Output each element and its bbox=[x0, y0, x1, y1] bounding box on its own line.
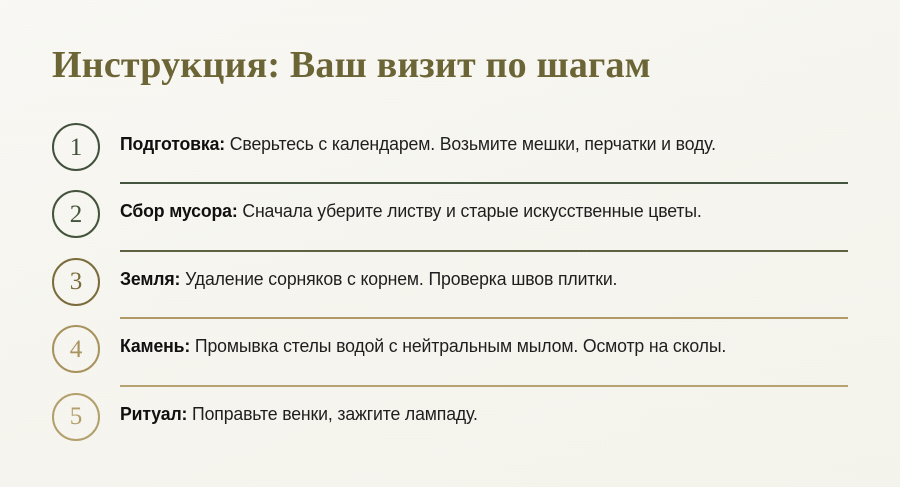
step-text: Подготовка: Сверьтесь с календарем. Возь… bbox=[120, 131, 815, 157]
step-number-badge: 5 bbox=[52, 393, 100, 441]
steps-list: 1Подготовка: Сверьтесь с календарем. Воз… bbox=[0, 117, 900, 454]
step-number-badge: 1 bbox=[52, 123, 100, 171]
step-text: Сбор мусора: Сначала уберите листву и ст… bbox=[120, 198, 815, 224]
step-item: 1Подготовка: Сверьтесь с календарем. Воз… bbox=[0, 117, 900, 184]
step-label: Камень: bbox=[120, 335, 190, 356]
step-number-badge: 4 bbox=[52, 325, 100, 373]
step-description: Поправьте венки, зажгите лампаду. bbox=[192, 403, 478, 424]
step-label: Сбор мусора: bbox=[120, 200, 238, 221]
step-text: Земля: Удаление сорняков с корнем. Прове… bbox=[120, 266, 815, 292]
step-item: 3Земля: Удаление сорняков с корнем. Пров… bbox=[0, 252, 900, 319]
step-item: 2Сбор мусора: Сначала уберите листву и с… bbox=[0, 184, 900, 251]
step-item: 5Ритуал: Поправьте венки, зажгите лампад… bbox=[0, 387, 900, 454]
step-number-badge: 2 bbox=[52, 190, 100, 238]
step-text: Ритуал: Поправьте венки, зажгите лампаду… bbox=[120, 401, 815, 427]
instruction-infographic: Инструкция: Ваш визит по шагам 1Подготов… bbox=[0, 0, 900, 487]
step-number-badge: 3 bbox=[52, 258, 100, 306]
step-item: 4Камень: Промывка стелы водой с нейтраль… bbox=[0, 319, 900, 386]
step-description: Сначала уберите листву и старые искусств… bbox=[242, 200, 701, 221]
step-description: Удаление сорняков с корнем. Проверка шво… bbox=[185, 268, 617, 289]
step-label: Подготовка: bbox=[120, 133, 225, 154]
page-title: Инструкция: Ваш визит по шагам bbox=[52, 43, 651, 87]
step-description: Сверьтесь с календарем. Возьмите мешки, … bbox=[230, 133, 716, 154]
step-text: Камень: Промывка стелы водой с нейтральн… bbox=[120, 333, 815, 359]
step-label: Земля: bbox=[120, 268, 180, 289]
step-label: Ритуал: bbox=[120, 403, 187, 424]
step-description: Промывка стелы водой с нейтральным мылом… bbox=[195, 335, 726, 356]
